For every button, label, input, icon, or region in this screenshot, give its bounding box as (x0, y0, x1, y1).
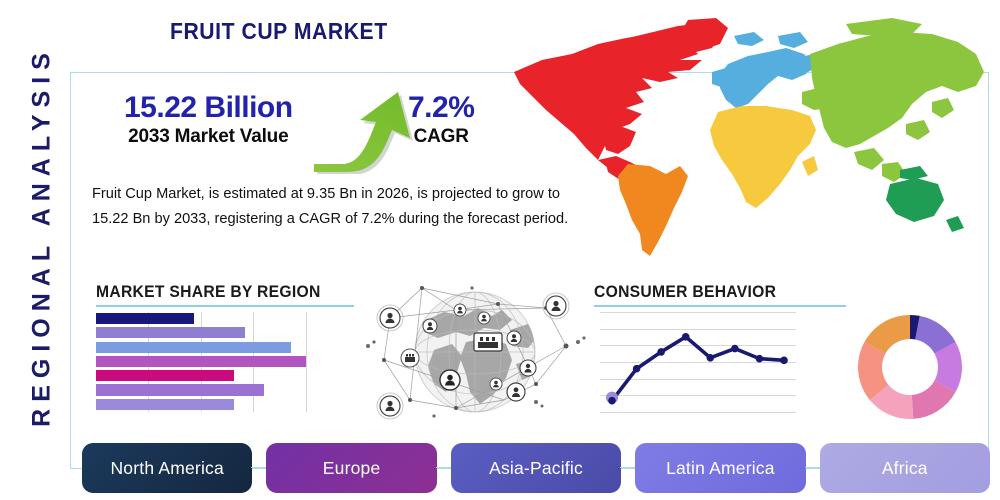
market-share-underline (96, 305, 354, 307)
bar-chart-bar (96, 356, 306, 367)
region-tab-label: Europe (323, 458, 381, 479)
cagr-label: CAGR (408, 126, 474, 148)
headline-stats: 15.22 Billion 2033 Market Value 7.2% CAG… (98, 92, 518, 172)
bar-chart-bar (96, 399, 234, 410)
bar-chart-bar (96, 384, 264, 395)
region-tab-latin-america[interactable]: Latin America (635, 443, 805, 493)
region-tab-label: North America (110, 458, 223, 479)
bar-fill (96, 313, 194, 324)
side-label-regional-analysis: REGIONAL ANALYSIS (28, 27, 57, 447)
cagr-stat: 7.2% CAGR (408, 92, 474, 147)
section-title-consumer-behavior: CONSUMER BEHAVIOR (594, 283, 776, 302)
region-tabs: North AmericaEuropeAsia-PacificLatin Ame… (82, 443, 990, 493)
bar-chart-bar (96, 370, 234, 381)
market-share-bar-chart (96, 312, 316, 412)
line-data-point (608, 397, 616, 405)
tab-connector (251, 467, 267, 468)
line-data-point (706, 354, 714, 362)
line-data-point (682, 333, 690, 341)
region-tab-label: Latin America (666, 458, 775, 479)
world-map-icon (502, 14, 990, 270)
tab-connector (436, 467, 452, 468)
gridline (600, 412, 796, 413)
bar-fill (96, 342, 291, 353)
cagr-number: 7.2% (408, 92, 474, 124)
bar-chart-bar (96, 342, 291, 353)
bar-fill (96, 327, 245, 338)
line-data-point (780, 357, 788, 365)
infographic-root: REGIONAL ANALYSIS FRUIT CUP MARKET 15.22… (0, 0, 1000, 500)
line-data-point (657, 348, 665, 356)
global-network-icon (360, 280, 590, 425)
consumer-behavior-line-chart (600, 312, 796, 412)
region-tab-europe[interactable]: Europe (266, 443, 436, 493)
market-value-number: 15.22 Billion (124, 92, 293, 124)
bar-chart-bar (96, 313, 194, 324)
region-tab-north-america[interactable]: North America (82, 443, 252, 493)
market-value-stat: 15.22 Billion 2033 Market Value (124, 92, 293, 147)
tab-connector (805, 467, 821, 468)
bar-fill (96, 370, 234, 381)
region-tab-asia-pacific[interactable]: Asia-Pacific (451, 443, 621, 493)
gridline (306, 312, 307, 412)
region-tab-africa[interactable]: Africa (820, 443, 990, 493)
tab-connector (620, 467, 636, 468)
bar-fill (96, 384, 264, 395)
consumer-behavior-underline (594, 305, 846, 307)
bar-fill (96, 356, 306, 367)
section-title-market-share: MARKET SHARE BY REGION (96, 283, 321, 302)
bar-chart-bar (96, 327, 245, 338)
region-tab-label: Asia-Pacific (489, 458, 583, 479)
line-data-point (756, 355, 764, 363)
market-value-label: 2033 Market Value (124, 126, 293, 148)
segment-donut-chart (853, 310, 967, 424)
page-title: FRUIT CUP MARKET (170, 18, 388, 45)
line-chart-plot (600, 312, 796, 412)
line-data-point (633, 365, 641, 373)
bar-fill (96, 399, 234, 410)
line-data-point (731, 345, 739, 353)
region-tab-label: Africa (882, 458, 928, 479)
growth-arrow-icon (312, 88, 422, 174)
